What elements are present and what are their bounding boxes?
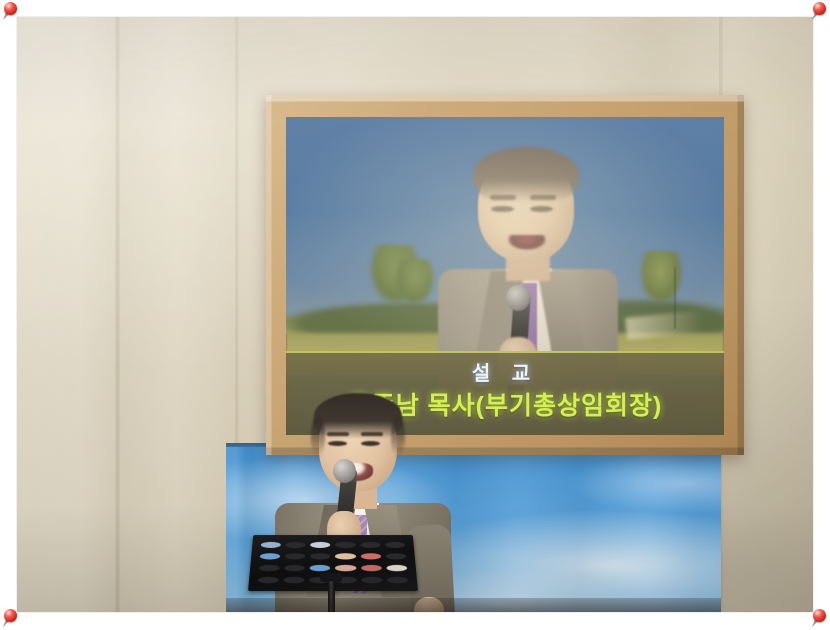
pin-bottom-right-icon [811, 609, 828, 628]
projected-speaker-eye [491, 206, 514, 212]
music-stand-hole [284, 565, 305, 571]
music-stand-hole [335, 542, 355, 548]
pin-top-left-icon [2, 2, 19, 21]
music-stand-hole [335, 553, 355, 559]
projected-speaker-mouth [508, 235, 546, 250]
music-stand-hole [284, 576, 305, 583]
music-stand-hole [361, 576, 382, 583]
music-stand-hole [386, 565, 407, 571]
music-stand-hole [259, 565, 280, 571]
photo-page: 설 교 윤종남 목사(부기총상임회장) [0, 0, 830, 630]
music-stand-hole [387, 576, 408, 583]
music-stand-hole [385, 542, 406, 548]
pin-bottom-left-icon [2, 609, 19, 628]
projected-speaker-eyebrow [530, 195, 556, 200]
music-stand-hole [258, 576, 279, 583]
music-stand-hole [285, 553, 306, 559]
music-stand-hole [335, 565, 356, 571]
projected-speaker-eyebrow [490, 195, 516, 200]
speaker-eyebrow [361, 432, 383, 436]
music-stand-hole [360, 553, 381, 559]
music-stand-hole [360, 542, 380, 548]
pin-head [4, 609, 17, 622]
speaker-eyebrow [327, 432, 349, 436]
pin-head [4, 2, 17, 15]
speaker-hair-side [311, 415, 325, 457]
speaker-eye [328, 441, 347, 446]
music-stand-hole [261, 542, 282, 548]
stage-floor-shadow [226, 598, 721, 612]
projected-speaker-hair [473, 147, 579, 203]
projection-screen: 설 교 윤종남 목사(부기총상임회장) [286, 117, 724, 435]
pin-head [813, 2, 826, 15]
music-stand-hole [310, 565, 331, 571]
speaker-hair-side [391, 415, 405, 457]
photograph: 설 교 윤종남 목사(부기총상임회장) [17, 17, 813, 612]
slide-utility-pole [674, 267, 676, 329]
music-stand-hole [386, 553, 407, 559]
slide-tree [638, 251, 684, 307]
microphone-head [333, 459, 356, 483]
music-stand-hole [286, 542, 306, 548]
projected-speaker-eye [530, 206, 553, 212]
pin-top-right-icon [811, 2, 828, 21]
speaker-eye [361, 441, 380, 446]
music-stand-hole [310, 542, 330, 548]
slide-caption-title: 설 교 [286, 359, 724, 389]
music-stand-hole [260, 553, 281, 559]
slide-tree [394, 259, 436, 307]
projected-microphone-head [506, 285, 530, 311]
music-stand-hole [310, 553, 330, 559]
pin-head [813, 609, 826, 622]
music-stand-hole [361, 565, 382, 571]
